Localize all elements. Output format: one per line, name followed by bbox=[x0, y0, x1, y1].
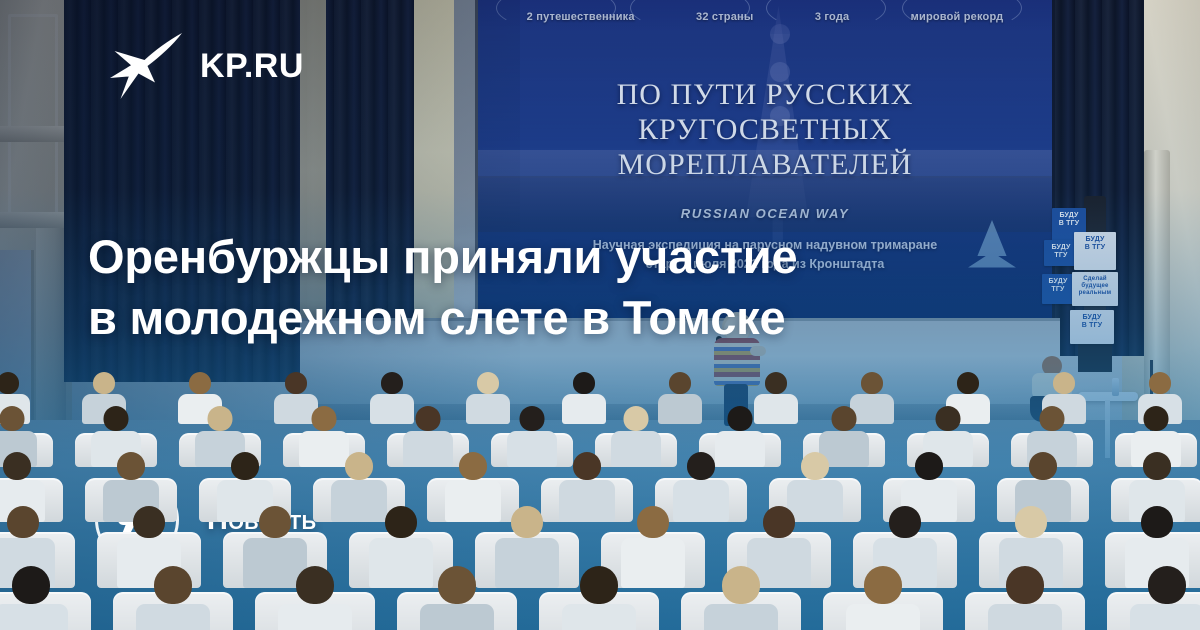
audience-person-head bbox=[477, 372, 499, 394]
audience-person-torso bbox=[136, 604, 210, 630]
audience-person-head bbox=[1148, 566, 1186, 604]
audience-person-head bbox=[624, 406, 649, 431]
audience-person-head bbox=[637, 506, 669, 538]
audience-person-head bbox=[1149, 372, 1171, 394]
audience-person-head bbox=[381, 372, 403, 394]
audience-person bbox=[136, 566, 210, 630]
audience-person-head bbox=[1053, 372, 1075, 394]
audience-person-head bbox=[438, 566, 476, 604]
audience-person-head bbox=[154, 566, 192, 604]
audience-person-head bbox=[1141, 506, 1173, 538]
audience-person-torso bbox=[988, 604, 1062, 630]
audience-person-head bbox=[1040, 406, 1065, 431]
audience-person-head bbox=[573, 452, 601, 480]
audience-person-head bbox=[133, 506, 165, 538]
audience-person-torso bbox=[0, 604, 68, 630]
audience-person-torso bbox=[562, 604, 636, 630]
audience-seat bbox=[1096, 552, 1200, 630]
audience-person-head bbox=[832, 406, 857, 431]
audience-person bbox=[988, 566, 1062, 630]
audience-person bbox=[278, 566, 352, 630]
audience-person-head bbox=[312, 406, 337, 431]
audience-person-head bbox=[936, 406, 961, 431]
audience-person-head bbox=[915, 452, 943, 480]
audience-person-head bbox=[459, 452, 487, 480]
audience-person-head bbox=[385, 506, 417, 538]
audience-person-head bbox=[520, 406, 545, 431]
audience-person-head bbox=[3, 452, 31, 480]
audience-person-head bbox=[861, 372, 883, 394]
audience-seat bbox=[244, 552, 386, 630]
audience-person-head bbox=[687, 452, 715, 480]
audience-person-head bbox=[511, 506, 543, 538]
audience-person-head bbox=[669, 372, 691, 394]
audience-person-head bbox=[0, 406, 25, 431]
audience-person bbox=[420, 566, 494, 630]
audience-person-head bbox=[208, 406, 233, 431]
kp-logo[interactable]: KP.RU bbox=[108, 30, 304, 102]
audience-person-torso bbox=[420, 604, 494, 630]
headline-line-2: в молодежном слете в Томске bbox=[88, 287, 1048, 348]
audience-person-head bbox=[763, 506, 795, 538]
kp-logo-text: KP.RU bbox=[200, 49, 304, 83]
audience-person-head bbox=[722, 566, 760, 604]
audience-person-head bbox=[864, 566, 902, 604]
audience-person-head bbox=[0, 372, 19, 394]
audience-seat bbox=[954, 552, 1096, 630]
audience-person-torso bbox=[704, 604, 778, 630]
audience-seat bbox=[528, 552, 670, 630]
audience-person-head bbox=[957, 372, 979, 394]
audience-person-torso bbox=[1130, 604, 1200, 630]
audience-person-head bbox=[104, 406, 129, 431]
audience-person-head bbox=[117, 452, 145, 480]
audience-seating bbox=[0, 352, 1200, 630]
audience-seat bbox=[386, 552, 528, 630]
audience-person-head bbox=[1144, 406, 1169, 431]
audience-seat bbox=[0, 552, 102, 630]
swallow-bird-icon bbox=[108, 30, 184, 102]
audience-person-head bbox=[93, 372, 115, 394]
audience-person-head bbox=[801, 452, 829, 480]
audience-person-head bbox=[12, 566, 50, 604]
audience-person-head bbox=[296, 566, 334, 604]
audience-person-head bbox=[231, 452, 259, 480]
audience-person-head bbox=[1143, 452, 1171, 480]
audience-person-head bbox=[259, 506, 291, 538]
audience-person-torso bbox=[846, 604, 920, 630]
audience-seat bbox=[102, 552, 244, 630]
social-share-card: 2 путешественника 32 страны 3 года миров… bbox=[0, 0, 1200, 630]
headline-line-1: Оренбуржцы приняли участие bbox=[88, 226, 1048, 287]
audience-person-head bbox=[7, 506, 39, 538]
audience-person-torso bbox=[278, 604, 352, 630]
audience-person-head bbox=[765, 372, 787, 394]
audience-person-head bbox=[580, 566, 618, 604]
audience-person-head bbox=[728, 406, 753, 431]
audience-person-head bbox=[889, 506, 921, 538]
audience-person bbox=[1130, 566, 1200, 630]
audience-seat bbox=[812, 552, 954, 630]
audience-person-head bbox=[1029, 452, 1057, 480]
audience-person bbox=[704, 566, 778, 630]
audience-person bbox=[846, 566, 920, 630]
audience-person bbox=[0, 566, 68, 630]
audience-person-head bbox=[1006, 566, 1044, 604]
audience-person-head bbox=[416, 406, 441, 431]
audience-person-head bbox=[1015, 506, 1047, 538]
audience-person-head bbox=[285, 372, 307, 394]
audience-seat bbox=[670, 552, 812, 630]
audience-person-head bbox=[189, 372, 211, 394]
audience-person bbox=[562, 566, 636, 630]
audience-person-head bbox=[345, 452, 373, 480]
audience-person-head bbox=[573, 372, 595, 394]
page-title: Оренбуржцы приняли участие в молодежном … bbox=[88, 226, 1048, 348]
